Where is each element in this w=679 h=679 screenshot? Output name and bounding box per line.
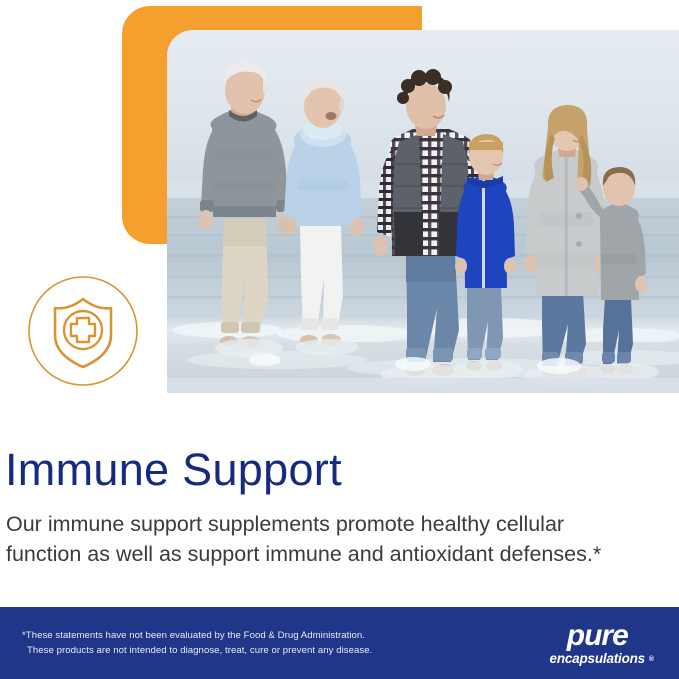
immune-support-banner: Immune Support Our immune support supple… (0, 0, 679, 679)
page-description: Our immune support supplements promote h… (6, 509, 626, 569)
hero-photo (167, 30, 679, 393)
beach-family-illustration (167, 30, 679, 393)
fda-disclaimer: *These statements have not been evaluate… (22, 628, 550, 658)
logo-subwordmark: encapsulations (550, 652, 645, 666)
shield-medical-cross-icon (27, 275, 139, 387)
disclaimer-line-2: These products are not intended to diagn… (22, 643, 550, 658)
pure-encapsulations-logo: pure encapsulations ® (550, 621, 645, 666)
registered-trademark-symbol: ® (649, 656, 654, 663)
logo-wordmark: pure (550, 621, 645, 651)
immune-shield-badge (27, 275, 139, 387)
page-title: Immune Support (5, 446, 342, 493)
disclaimer-line-1: *These statements have not been evaluate… (22, 630, 365, 641)
footer-bar: *These statements have not been evaluate… (0, 607, 679, 679)
